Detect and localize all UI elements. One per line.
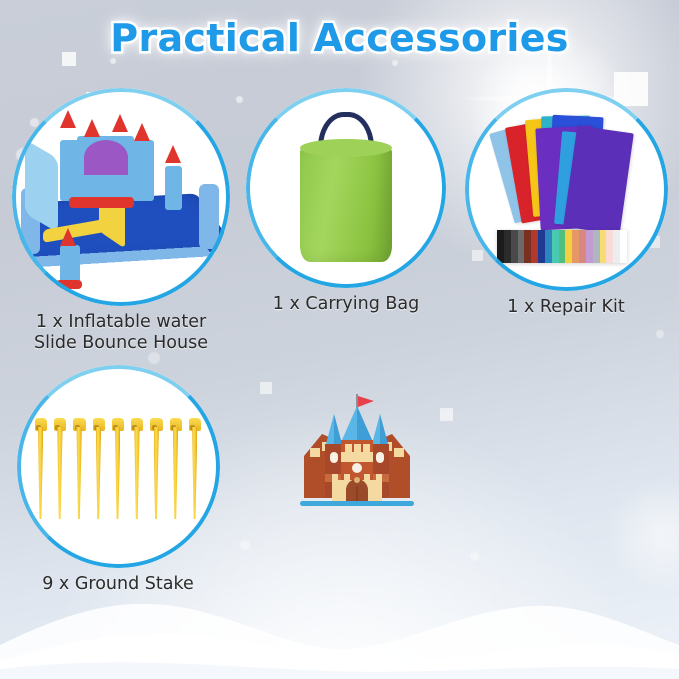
stake-shaft: [76, 427, 81, 519]
item-repair-kit[interactable]: 1 x Repair Kit: [461, 88, 671, 318]
carrying-bag-icon: [246, 88, 446, 288]
stake-shaft: [134, 427, 139, 519]
bounce-house-arch: [84, 140, 128, 175]
strip-8: [545, 230, 552, 262]
bounce-house-tower-right: [132, 140, 154, 201]
ground-stake-row: [35, 418, 201, 520]
repair-kit-strip-card: [497, 230, 627, 262]
strip-4: [518, 230, 525, 262]
item-caption-carrying-bag: 1 x Carrying Bag: [243, 294, 449, 315]
item-image-circle-bounce-house: [12, 88, 230, 306]
ground-stake-9: [189, 418, 201, 520]
items-grid: 1 x Inflatable water Slide Bounce House …: [0, 0, 679, 679]
strip-16: [600, 230, 607, 262]
strip-17: [606, 230, 613, 262]
item-carrying-bag[interactable]: 1 x Carrying Bag: [243, 88, 449, 315]
item-caption-repair-kit: 1 x Repair Kit: [461, 297, 671, 318]
strip-12: [572, 230, 579, 262]
stake-shaft: [192, 427, 197, 519]
bounce-house-cone-6: [60, 228, 76, 246]
ground-stake-8: [170, 418, 182, 520]
strip-3: [511, 230, 518, 262]
title-container: Practical Accessories: [0, 16, 679, 60]
ground-stake-6: [131, 418, 143, 520]
ground-stake-3: [73, 418, 85, 520]
castle-icon: [296, 382, 418, 512]
strip-15: [593, 230, 600, 262]
strip-19: [620, 230, 627, 262]
item-image-circle-ground-stake: [17, 365, 220, 568]
strip-5: [524, 230, 531, 262]
bounce-house-base-red: [69, 197, 134, 208]
stake-shaft: [173, 427, 178, 519]
page-title: Practical Accessories: [110, 16, 568, 60]
strip-11: [565, 230, 572, 262]
item-bounce-house[interactable]: 1 x Inflatable water Slide Bounce House: [8, 88, 234, 355]
strip-7: [538, 230, 545, 262]
carrying-bag-opening: [300, 139, 392, 157]
strip-9: [552, 230, 559, 262]
accessories-infographic: Practical Accessories: [0, 0, 679, 679]
ground-stake-5: [112, 418, 124, 520]
bounce-house-base-red-front: [56, 280, 82, 289]
bounce-house-tower-left: [60, 140, 82, 201]
strip-1: [497, 230, 504, 262]
strip-6: [531, 230, 538, 262]
strip-18: [613, 230, 620, 262]
item-caption-ground-stake: 9 x Ground Stake: [13, 574, 223, 595]
strip-14: [586, 230, 593, 262]
bounce-house-cone-1: [60, 110, 76, 128]
strip-10: [559, 230, 566, 262]
bounce-house-tower-front: [60, 245, 80, 284]
ground-stake-4: [93, 418, 105, 520]
strip-2: [504, 230, 511, 262]
stake-shaft: [96, 427, 101, 519]
bounce-house-cone-3: [112, 114, 128, 132]
carrying-bag-body: [300, 148, 392, 262]
ground-stake-7: [150, 418, 162, 520]
stake-shaft: [154, 427, 159, 519]
ground-stake-1: [35, 418, 47, 520]
bounce-house-cone-5: [165, 145, 181, 163]
stake-shaft: [57, 427, 62, 519]
item-image-circle-repair-kit: [465, 88, 668, 291]
repair-kit-icon: [465, 88, 668, 291]
stake-shaft: [115, 427, 120, 519]
strip-13: [579, 230, 586, 262]
item-caption-bounce-house: 1 x Inflatable water Slide Bounce House: [8, 312, 234, 355]
bounce-house-rim-right: [199, 184, 219, 249]
stake-shaft: [38, 427, 43, 519]
bounce-house-tower-far-right: [165, 166, 182, 210]
bounce-house-cone-4: [134, 123, 150, 141]
ground-stake-icon: [17, 365, 220, 568]
inflatable-water-slide-icon: [12, 88, 230, 306]
item-image-circle-carrying-bag: [246, 88, 446, 288]
item-ground-stake[interactable]: 9 x Ground Stake: [13, 365, 223, 595]
ground-stake-2: [54, 418, 66, 520]
bounce-house-cone-2: [84, 119, 100, 137]
